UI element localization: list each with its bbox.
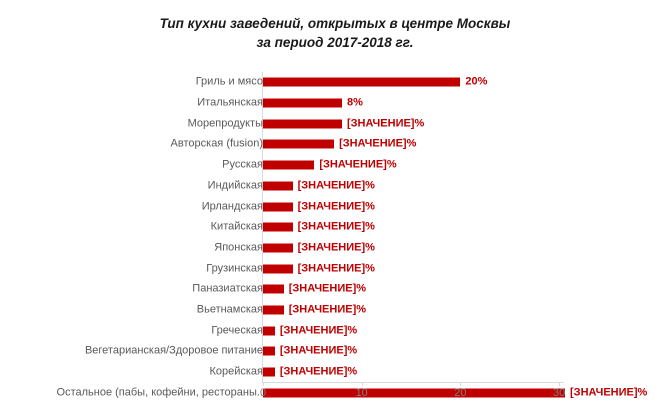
category-label: Вегетарианская/Здоровое питание [85, 345, 263, 358]
chart-row: Русская[ЗНАЧЕНИЕ]% [0, 155, 670, 176]
chart-row: Остальное (пабы, кофейни, рестораны..[ЗН… [0, 383, 670, 404]
category-label: Авторская (fusion) [171, 138, 263, 151]
x-axis-tick [559, 382, 560, 386]
bar[interactable] [263, 78, 460, 87]
bar[interactable] [263, 326, 275, 335]
bar-value-label: [ЗНАЧЕНИЕ]% [298, 179, 375, 192]
bar-value-label: [ЗНАЧЕНИЕ]% [570, 386, 647, 399]
x-axis-tick [263, 382, 264, 386]
chart-container: Тип кухни заведений, открытых в центре М… [0, 0, 670, 408]
category-label: Вьетнамская [197, 304, 263, 317]
bar[interactable] [263, 285, 284, 294]
category-label: Итальянская [197, 97, 263, 110]
bar-value-label: [ЗНАЧЕНИЕ]% [298, 221, 375, 234]
chart-row: Вегетарианская/Здоровое питание[ЗНАЧЕНИЕ… [0, 341, 670, 362]
chart-row: Ирландская[ЗНАЧЕНИЕ]% [0, 196, 670, 217]
bar-value-label: [ЗНАЧЕНИЕ]% [339, 138, 416, 151]
chart-row: Вьетнамская[ЗНАЧЕНИЕ]% [0, 300, 670, 321]
x-axis-tick [460, 382, 461, 386]
bar[interactable] [263, 306, 284, 315]
chart-row: Итальянская8% [0, 93, 670, 114]
bar[interactable] [263, 181, 293, 190]
category-label: Паназиатская [192, 283, 263, 296]
x-axis-tick-label: 30 [553, 387, 565, 399]
bar-value-label: [ЗНАЧЕНИЕ]% [280, 366, 357, 379]
bar[interactable] [263, 140, 334, 149]
plot-area: Гриль и мясо20%Итальянская8%Морепродукты… [0, 0, 670, 408]
bar-value-label: [ЗНАЧЕНИЕ]% [298, 241, 375, 254]
category-label: Ирландская [202, 200, 263, 213]
category-label: Гриль и мясо [196, 76, 263, 89]
category-label: Индийская [208, 179, 263, 192]
chart-row: Корейская[ЗНАЧЕНИЕ]% [0, 362, 670, 383]
bar[interactable] [263, 264, 293, 273]
bar-value-label: [ЗНАЧЕНИЕ]% [347, 117, 424, 130]
chart-row: Китайская[ЗНАЧЕНИЕ]% [0, 217, 670, 238]
bar[interactable] [263, 119, 342, 128]
bar[interactable] [263, 99, 342, 108]
chart-row: Гриль и мясо20% [0, 72, 670, 93]
category-label: Морепродукты [188, 117, 263, 130]
bar[interactable] [263, 347, 275, 356]
category-label: Остальное (пабы, кофейни, рестораны.. [57, 386, 263, 399]
category-label: Корейская [209, 366, 263, 379]
bar[interactable] [263, 388, 565, 397]
x-axis-tick-label: 0 [260, 387, 266, 399]
bar-value-label: [ЗНАЧЕНИЕ]% [280, 345, 357, 358]
bar-value-label: [ЗНАЧЕНИЕ]% [280, 324, 357, 337]
category-label: Китайская [211, 221, 263, 234]
chart-row: Паназиатская[ЗНАЧЕНИЕ]% [0, 279, 670, 300]
bar[interactable] [263, 161, 314, 170]
bar[interactable] [263, 243, 293, 252]
bar-value-label: [ЗНАЧЕНИЕ]% [289, 283, 366, 296]
chart-row: Греческая[ЗНАЧЕНИЕ]% [0, 320, 670, 341]
chart-row: Авторская (fusion)[ЗНАЧЕНИЕ]% [0, 134, 670, 155]
x-axis-tick [362, 382, 363, 386]
x-axis-tick-label: 10 [356, 387, 368, 399]
bar[interactable] [263, 368, 275, 377]
bar-value-label: [ЗНАЧЕНИЕ]% [298, 200, 375, 213]
x-axis-tick-label: 20 [454, 387, 466, 399]
chart-row: Японская[ЗНАЧЕНИЕ]% [0, 238, 670, 259]
bar-value-label: [ЗНАЧЕНИЕ]% [298, 262, 375, 275]
bar[interactable] [263, 223, 293, 232]
chart-row: Грузинская[ЗНАЧЕНИЕ]% [0, 258, 670, 279]
bar-value-label: 20% [465, 76, 487, 89]
category-label: Русская [222, 159, 263, 172]
bar-value-label: [ЗНАЧЕНИЕ]% [319, 159, 396, 172]
bar-value-label: 8% [347, 97, 363, 110]
category-label: Грузинская [206, 262, 263, 275]
chart-row: Морепродукты[ЗНАЧЕНИЕ]% [0, 113, 670, 134]
bar[interactable] [263, 202, 293, 211]
chart-row: Индийская[ЗНАЧЕНИЕ]% [0, 176, 670, 197]
category-label: Греческая [211, 324, 263, 337]
bar-value-label: [ЗНАЧЕНИЕ]% [289, 304, 366, 317]
category-label: Японская [214, 241, 263, 254]
